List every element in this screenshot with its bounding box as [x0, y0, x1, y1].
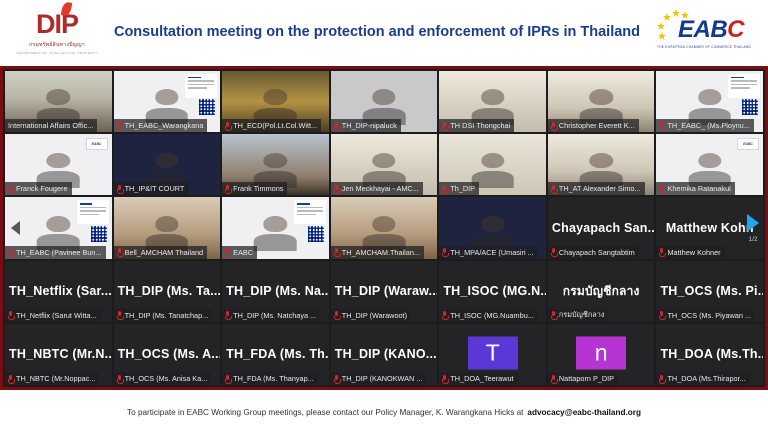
participant-avatar: T — [468, 337, 518, 370]
participant-tile[interactable]: Bell_AMCHAM Thailand — [114, 197, 221, 258]
participant-tile[interactable]: Jen Meckhayai - AMC... — [331, 134, 438, 195]
microphone-icon — [225, 248, 230, 256]
microphone-icon — [117, 185, 122, 193]
participant-name-strip: TH_EABC_Warangkana — [114, 119, 208, 132]
microphone-icon — [442, 311, 447, 319]
participant-name-strip: TH_OCS (Ms. Anisa Ka... — [114, 372, 212, 385]
participant-name-label: Christopher Everett K... — [559, 121, 635, 130]
participant-name-strip: TH_AT Alexander Simo... — [548, 182, 645, 195]
participant-tile[interactable]: Chayapach San...Chayapach Sangtabtim — [548, 197, 655, 258]
participant-name-strip: TH DSI Thongchai — [439, 119, 514, 132]
microphone-icon — [225, 122, 230, 130]
participant-name-strip: TH_AMCHAM.Thailan... — [331, 246, 424, 259]
microphone-icon — [225, 185, 230, 193]
participant-name-label: TH_EABC_ (Ms.Ploynu... — [667, 121, 749, 130]
microphone-icon — [117, 375, 122, 383]
qr-code-icon — [91, 226, 107, 242]
participant-name-strip: TH_DIP (Ms. Tanatchap... — [114, 309, 213, 322]
microphone-icon — [334, 122, 339, 130]
gallery-row: TH_EABC (Pavinee Bun...Bell_AMCHAM Thail… — [5, 197, 763, 258]
page-indicator: 1/2 — [748, 236, 757, 243]
participant-name-label: TH_DIP (Ms. Tanatchap... — [125, 311, 209, 320]
participant-name-label: TH_DIP (Warawoot) — [342, 311, 407, 320]
participant-name-large: TH_DIP (Ms. Ta... — [114, 284, 221, 298]
participant-tile[interactable]: TH_IP&IT COURT — [114, 134, 221, 195]
dip-logo-thai: กรมทรัพย์สินทางปัญญา — [29, 41, 85, 49]
participant-name-large: TH_DIP (Ms. Na... — [222, 284, 329, 298]
participant-tile[interactable]: TH_FDA (Ms. Th...TH_FDA (Ms. Thanyap... — [222, 324, 329, 385]
participant-tile[interactable]: Frank Timmons — [222, 134, 329, 195]
participant-name-strip: TH_DIP (Ms. Natchaya ... — [222, 309, 320, 322]
eabc-info-card — [294, 200, 326, 224]
participant-name-strip: TH_DIP (Warawoot) — [331, 309, 411, 322]
participant-name-strip: Matthew Kohner — [656, 246, 724, 259]
participant-name-label: Th_DIP — [450, 184, 475, 193]
next-page-arrow-icon[interactable] — [747, 214, 759, 232]
participant-name-strip: TH_OCS (Ms. Piyawan ... — [656, 309, 755, 322]
participant-name-strip: Chayapach Sangtabtim — [548, 246, 639, 259]
participant-name-label: TH_AMCHAM.Thailan... — [342, 248, 420, 257]
participant-name-strip: TH_ISOC (MG.Nuambu... — [439, 309, 538, 322]
participant-tile[interactable]: nNattaporn P_DIP — [548, 324, 655, 385]
participant-name-strip: Bell_AMCHAM Thailand — [114, 246, 208, 259]
microphone-icon — [551, 185, 556, 193]
participant-name-label: TH_DOA_Teerawut — [450, 374, 513, 383]
participant-name-label: Chayapach Sangtabtim — [559, 248, 635, 257]
video-gallery: International Affairs Offic...TH_EABC_Wa… — [0, 66, 768, 390]
participant-tile[interactable]: TH_DIP (Ms. Na...TH_DIP (Ms. Natchaya ..… — [222, 261, 329, 322]
participant-name-label: TH_EABC_Warangkana — [125, 121, 204, 130]
gallery-row: TH_NBTC (Mr.N...TH_NBTC (Mr.Noppac...TH_… — [5, 324, 763, 385]
microphone-icon — [334, 185, 339, 193]
microphone-icon — [442, 375, 447, 383]
participant-name-label: TH_FDA (Ms. Thanyap... — [233, 374, 314, 383]
participant-tile[interactable]: TTH_DOA_Teerawut — [439, 324, 546, 385]
slide-footer: To participate in EABC Working Group mee… — [0, 392, 768, 432]
dip-logo: DIP กรมทรัพย์สินทางปัญญา DEPARTMENT OF I… — [12, 2, 102, 64]
participant-name-label: Khemika Ratanakul — [667, 184, 730, 193]
microphone-icon — [442, 122, 447, 130]
footer-text: To participate in EABC Working Group mee… — [127, 408, 523, 417]
participant-name-strip: Nattaporn P_DIP — [548, 372, 618, 385]
dip-logo-letters: DIP — [36, 9, 78, 39]
participant-name-label: Matthew Kohner — [667, 248, 720, 257]
participant-tile[interactable]: EABC — [222, 197, 329, 258]
participant-name-large: TH_DIP (Waraw... — [331, 284, 438, 298]
eabc-logo-subtitle: THE EUROPEAN CHAMBER OF COMMERCE THAILAN… — [657, 45, 751, 49]
gallery-row: International Affairs Offic...TH_EABC_Wa… — [5, 71, 763, 132]
participant-name-strip: TH_IP&IT COURT — [114, 182, 189, 195]
eu-stars-icon — [656, 8, 700, 42]
participant-name-strip: TH_ECD(Pol.Lt.Col.Witt... — [222, 119, 321, 132]
participant-tile[interactable]: TH_DIP (KANO...TH_DIP (KANOKWAN ... — [331, 324, 438, 385]
microphone-icon — [442, 185, 447, 193]
participant-tile[interactable]: TH_OCS (Ms. A...TH_OCS (Ms. Anisa Ka... — [114, 324, 221, 385]
microphone-icon — [551, 248, 556, 256]
participant-tile[interactable]: TH_DIP (Ms. Ta...TH_DIP (Ms. Tanatchap..… — [114, 261, 221, 322]
participant-tile[interactable]: TH_EABC_Warangkana — [114, 71, 221, 132]
participant-name-strip: Jen Meckhayai - AMC... — [331, 182, 423, 195]
participant-name-label: TH_DIP (KANOKWAN ... — [342, 374, 423, 383]
participant-name-large: TH_DIP (KANO... — [331, 347, 438, 361]
participant-name-large: Chayapach San... — [548, 221, 655, 235]
participant-name-strip: Th_DIP — [439, 182, 479, 195]
microphone-icon — [117, 122, 122, 130]
gallery-row: EABCFranck FougereTH_IP&IT COURTFrank Ti… — [5, 134, 763, 195]
participant-tile[interactable]: Christopher Everett K... — [548, 71, 655, 132]
participant-name-label: TH_IP&IT COURT — [125, 184, 185, 193]
participant-name-strip: EABC — [222, 246, 257, 259]
participant-name-label: TH_EABC (Pavinee Bun... — [16, 248, 102, 257]
microphone-icon — [334, 248, 339, 256]
participant-tile[interactable]: TH_MPA/ACE (Umasiri ... — [439, 197, 546, 258]
participant-name-label: Jen Meckhayai - AMC... — [342, 184, 419, 193]
eabc-mark-accent: C — [727, 16, 744, 43]
qr-code-icon — [199, 99, 215, 115]
prev-page-control[interactable] — [6, 69, 24, 387]
participant-name-label: Frank Timmons — [233, 184, 283, 193]
participant-name-strip: Christopher Everett K... — [548, 119, 639, 132]
participant-name-label: TH_MPA/ACE (Umasiri ... — [450, 248, 533, 257]
gallery-row: TH_Netflix (Sar...TH_Netflix (Sarut Witt… — [5, 261, 763, 322]
dip-logo-english: DEPARTMENT OF INTELLECTUAL PROPERTY — [16, 51, 97, 55]
prev-page-arrow-icon[interactable] — [11, 221, 20, 235]
participant-name-label: Nattaporn P_DIP — [559, 374, 614, 383]
eabc-info-card — [77, 200, 109, 224]
participant-name-label: TH_AT Alexander Simo... — [559, 184, 641, 193]
microphone-icon — [225, 311, 230, 319]
participant-name-label: TH_DIP (Ms. Natchaya ... — [233, 311, 316, 320]
participant-tile[interactable]: TH_AT Alexander Simo... — [548, 134, 655, 195]
participant-name-strip: TH_DOA (Ms.Thirapor... — [656, 372, 749, 385]
participant-name-label: TH DSI Thongchai — [450, 121, 510, 130]
qr-code-icon — [308, 226, 324, 242]
microphone-icon — [334, 311, 339, 319]
participant-name-label: EABC — [233, 248, 253, 257]
page-title: Consultation meeting on the protection a… — [102, 23, 652, 43]
participant-name-strip: TH_DIP-nipaluck — [331, 119, 401, 132]
participant-name-strip: TH_DIP (KANOKWAN ... — [331, 372, 427, 385]
participant-name-label: TH_ISOC (MG.Nuambu... — [450, 311, 534, 320]
microphone-icon — [117, 248, 122, 256]
microphone-icon — [551, 122, 556, 130]
participant-name-large: TH_FDA (Ms. Th... — [222, 347, 329, 361]
participant-tile[interactable]: TH_ECD(Pol.Lt.Col.Witt... — [222, 71, 329, 132]
participant-name-strip: TH_DOA_Teerawut — [439, 372, 517, 385]
participant-name-large: TH_ISOC (MG.N... — [439, 284, 546, 298]
participant-tile[interactable]: TH_DIP (Waraw...TH_DIP (Warawoot) — [331, 261, 438, 322]
participant-tile[interactable]: Th_DIP — [439, 134, 546, 195]
microphone-icon — [659, 122, 664, 130]
microphone-icon — [551, 311, 556, 319]
microphone-icon — [225, 375, 230, 383]
microphone-icon — [551, 375, 556, 383]
participant-name-strip: Khemika Ratanakul — [656, 182, 734, 195]
microphone-icon — [659, 375, 664, 383]
participant-name-label: TH_Netflix (Sarut Witta... — [16, 311, 97, 320]
participant-avatar: n — [576, 337, 626, 370]
slide-header: DIP กรมทรัพย์สินทางปัญญา DEPARTMENT OF I… — [0, 0, 768, 66]
dip-logo-mark: DIP — [36, 11, 78, 38]
participant-name-label: TH_DIP-nipaluck — [342, 121, 397, 130]
participant-tile[interactable]: TH_DIP-nipaluck — [331, 71, 438, 132]
microphone-icon — [117, 311, 122, 319]
participant-name-strip: TH_MPA/ACE (Umasiri ... — [439, 246, 537, 259]
participant-name-strip: Frank Timmons — [222, 182, 287, 195]
participant-name-label: TH_DOA (Ms.Thirapor... — [667, 374, 745, 383]
participant-tile[interactable]: TH DSI Thongchai — [439, 71, 546, 132]
participant-name-strip: TH_EABC_ (Ms.Ploynu... — [656, 119, 753, 132]
eabc-logo: EABC THE EUROPEAN CHAMBER OF COMMERCE TH… — [652, 4, 756, 62]
participant-tile[interactable]: TH_AMCHAM.Thailan... — [331, 197, 438, 258]
participant-name-label: กรมบัญชีกลาง — [559, 310, 605, 321]
participant-name-strip: กรมบัญชีกลาง — [548, 309, 609, 322]
participant-name-label: Bell_AMCHAM Thailand — [125, 248, 204, 257]
participant-name-label: TH_OCS (Ms. Anisa Ka... — [125, 374, 208, 383]
next-page-control[interactable]: 1/2 — [744, 69, 762, 387]
participant-name-large: TH_OCS (Ms. A... — [114, 347, 221, 361]
microphone-icon — [659, 248, 664, 256]
participant-tile[interactable]: TH_ISOC (MG.N...TH_ISOC (MG.Nuambu... — [439, 261, 546, 322]
participant-tile[interactable]: กรมบัญชีกลางกรมบัญชีกลาง — [548, 261, 655, 322]
microphone-icon — [442, 248, 447, 256]
microphone-icon — [659, 185, 664, 193]
participant-name-label: TH_OCS (Ms. Piyawan ... — [667, 311, 751, 320]
eabc-info-card — [185, 74, 217, 98]
footer-email: advocacy@eabc-thailand.org — [527, 408, 641, 417]
slide-root: DIP กรมทรัพย์สินทางปัญญา DEPARTMENT OF I… — [0, 0, 768, 432]
participant-name-large: กรมบัญชีกลาง — [559, 282, 644, 301]
participant-name-strip: TH_FDA (Ms. Thanyap... — [222, 372, 318, 385]
microphone-icon — [659, 311, 664, 319]
participant-name-label: TH_NBTC (Mr.Noppac... — [16, 374, 95, 383]
eabc-watermark: EABC — [86, 138, 108, 150]
participant-name-label: TH_ECD(Pol.Lt.Col.Witt... — [233, 121, 317, 130]
microphone-icon — [334, 375, 339, 383]
